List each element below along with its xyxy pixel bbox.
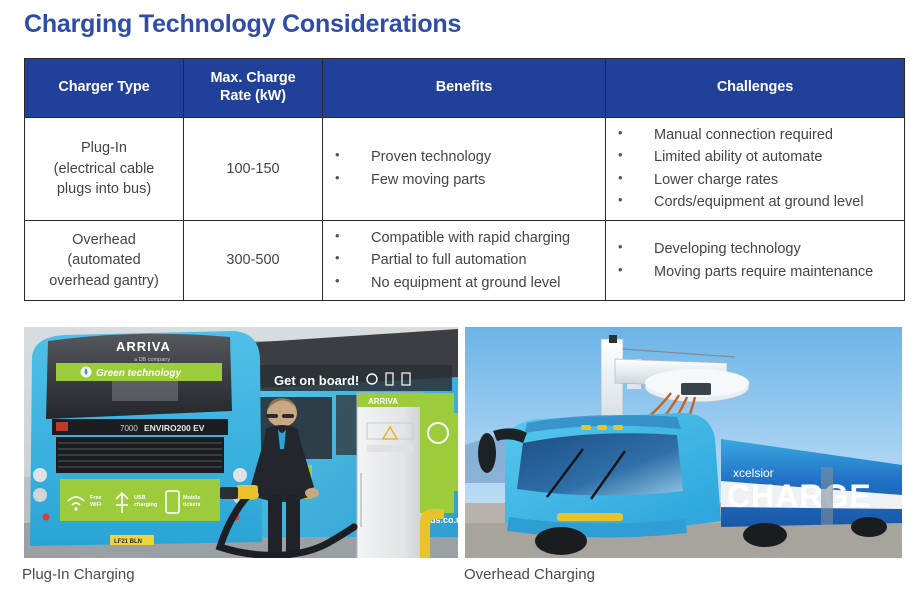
challenges-list-overhead: Developing technology Moving parts requi… [606,232,904,289]
charging-technology-table: Charger Type Max. Charge Rate (kW) Benef… [24,58,905,301]
bus-model-label: ENVIRO200 EV [144,423,205,433]
cell-charger-type-plugin: Plug-In (electrical cable plugs into bus… [25,118,184,221]
column-header-challenges: Challenges [606,59,905,118]
amenity-label-mobile: Mobile [183,495,200,501]
list-item: Few moving parts [331,169,597,191]
list-item: Compatible with rapid charging [331,227,597,249]
rate-header-line-2: Rate (kW) [220,88,286,104]
cell-charge-rate-plugin: 100-150 [184,118,323,221]
overhead-charging-illustration: xcelsior CHARGE [465,327,902,558]
cell-challenges-plugin: Manual connection required Limited abili… [606,118,905,221]
bus-subbrand-label: a DB company [134,357,170,363]
charger-type-line-3: overhead gantry) [49,273,159,289]
charger-type-line-2: (electrical cable [54,161,155,177]
benefits-list-plugin: Proven technology Few moving parts [323,140,605,197]
list-item: No equipment at ground level [331,272,597,294]
list-item: Moving parts require maintenance [614,261,896,283]
column-header-charger-type: Charger Type [25,59,184,118]
connector-handle [236,485,258,499]
amenity-label-wifi: Free [90,495,102,501]
svg-text:charging: charging [134,502,157,508]
charger-brand-label: ARRIVA [368,397,398,406]
cell-benefits-plugin: Proven technology Few moving parts [323,118,606,221]
list-item: Manual connection required [614,124,896,146]
caption-plugin-charging: Plug-In Charging [22,566,135,583]
table-header-row: Charger Type Max. Charge Rate (kW) Benef… [25,59,905,118]
list-item: Partial to full automation [331,249,597,271]
table-row: Overhead (automated overhead gantry) 300… [25,220,905,300]
table-row: Plug-In (electrical cable plugs into bus… [25,118,905,221]
list-item: Developing technology [614,238,896,260]
list-item: Cords/equipment at ground level [614,191,896,213]
green-technology-banner: Green technology [96,368,181,379]
charger-type-line-3: plugs into bus) [57,181,151,197]
charger-type-line-1: Overhead [72,232,136,248]
list-item: Lower charge rates [614,169,896,191]
plugin-charging-illustration: Get on board! arrivabus.co.uk ARRIVA a D… [24,327,458,558]
charger-type-line-2: (automated [67,252,140,268]
charger-type-line-1: Plug-In [81,140,127,156]
fleet-number: 7000 [120,424,138,433]
bus-brand-large-label: CHARGE [727,478,872,514]
cell-charge-rate-overhead: 300-500 [184,220,323,300]
benefits-list-overhead: Compatible with rapid charging Partial t… [323,221,605,300]
list-item: Limited ability ot automate [614,146,896,168]
caption-overhead-charging: Overhead Charging [464,566,595,583]
svg-text:tickets: tickets [183,502,200,508]
list-item: Proven technology [331,146,597,168]
bus-brand-label: ARRIVA [116,339,171,354]
cell-charger-type-overhead: Overhead (automated overhead gantry) [25,220,184,300]
license-plate-text: LF21 BLN [114,539,142,545]
door-text: Get on board! [274,373,359,388]
column-header-max-charge-rate: Max. Charge Rate (kW) [184,59,323,118]
front-guard [557,513,623,521]
rate-header-line-1: Max. Charge [210,70,295,86]
plugin-charging-photo: Get on board! arrivabus.co.uk ARRIVA a D… [24,327,458,558]
amenity-label-usb: USB [134,495,146,501]
challenges-list-plugin: Manual connection required Limited abili… [606,118,904,220]
page-title: Charging Technology Considerations [24,10,461,39]
svg-text:WiFi: WiFi [90,502,102,508]
cell-challenges-overhead: Developing technology Moving parts requi… [606,220,905,300]
bus-rear: ARRIVA a DB company Green technology 700… [30,331,262,546]
column-header-benefits: Benefits [323,59,606,118]
overhead-charging-photo: xcelsior CHARGE [465,327,902,558]
cell-benefits-overhead: Compatible with rapid charging Partial t… [323,220,606,300]
